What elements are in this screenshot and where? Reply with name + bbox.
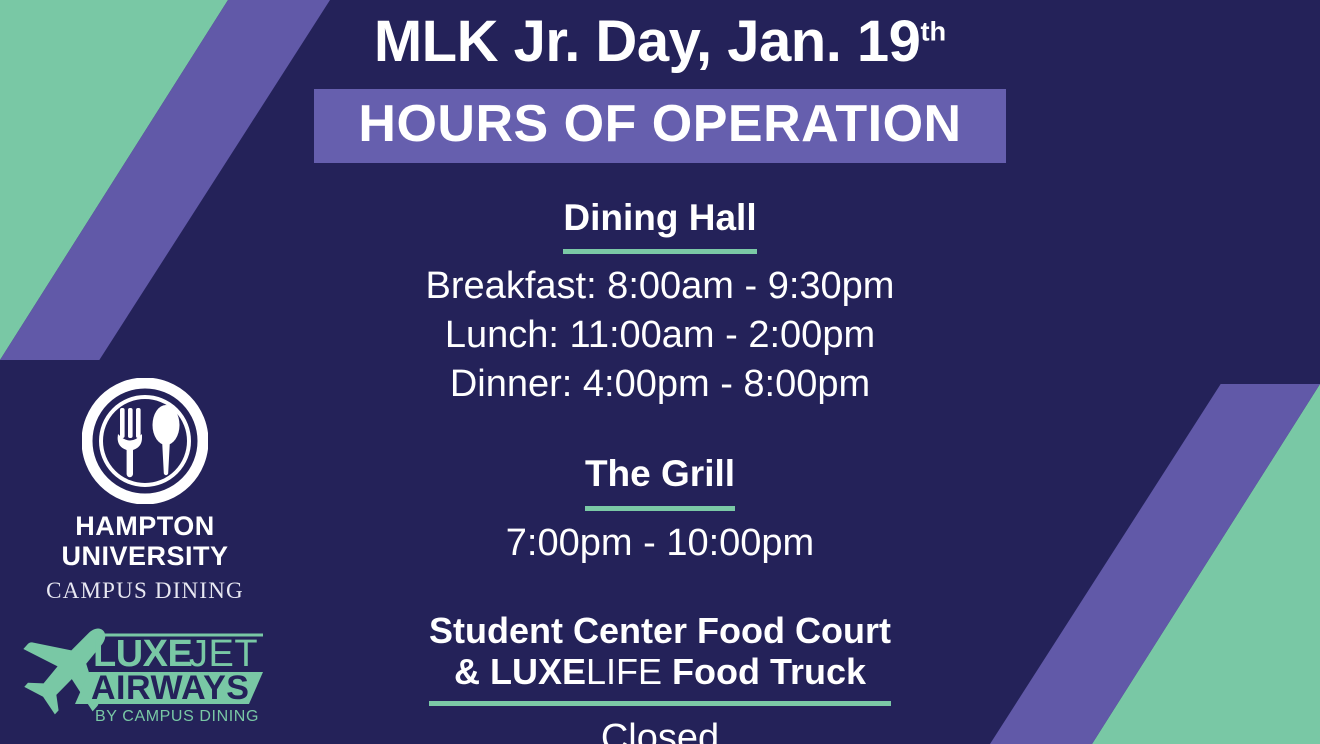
- branding-column: HAMPTON UNIVERSITY CAMPUS DINING LUXE JE…: [0, 378, 290, 731]
- venue-the-grill-heading: The Grill: [585, 452, 735, 510]
- hours-line-lunch: Lunch: 11:00am - 2:00pm: [300, 311, 1020, 360]
- venue-student-center-heading: Student Center Food Court& LUXELIFE Food…: [429, 611, 891, 706]
- hours-of-operation-poster: MLK Jr. Day, Jan. 19th HOURS OF OPERATIO…: [0, 0, 1320, 744]
- venue-dining-hall: Dining Hall Breakfast: 8:00am - 9:30pm L…: [300, 196, 1020, 408]
- venue-sections: Dining Hall Breakfast: 8:00am - 9:30pm L…: [300, 196, 1020, 744]
- university-name-line2: UNIVERSITY: [61, 541, 228, 571]
- venue-the-grill: The Grill 7:00pm - 10:00pm: [300, 452, 1020, 567]
- venue-luxe-word: LUXE: [490, 651, 586, 692]
- hours-line-breakfast: Breakfast: 8:00am - 9:30pm: [300, 262, 1020, 311]
- university-name: HAMPTON UNIVERSITY: [0, 512, 290, 571]
- corner-decoration-bottom-right: [980, 384, 1320, 744]
- hours-line-grill: 7:00pm - 10:00pm: [300, 519, 1020, 568]
- page-title-text: MLK Jr. Day, Jan. 19: [374, 9, 921, 74]
- luxejet-airways-word: AIRWAYS: [91, 669, 249, 707]
- luxejet-airways-logo: LUXE JET AIRWAYS BY CAMPUS DINING: [11, 614, 279, 726]
- venue-dining-hall-hours: Breakfast: 8:00am - 9:30pm Lunch: 11:00a…: [300, 262, 1020, 408]
- venue-student-center: Student Center Food Court& LUXELIFE Food…: [300, 611, 1020, 744]
- venue-student-center-line1: Student Center Food Court: [429, 610, 891, 651]
- venue-dining-hall-heading: Dining Hall: [563, 196, 756, 254]
- venue-student-center-line2-prefix: &: [454, 651, 490, 692]
- venue-student-center-line2-suffix: Food Truck: [662, 651, 866, 692]
- luxejet-tagline: BY CAMPUS DINING: [95, 708, 259, 725]
- venue-the-grill-hours: 7:00pm - 10:00pm: [300, 519, 1020, 568]
- venue-student-center-hours: Closed: [300, 714, 1020, 744]
- university-name-line1: HAMPTON: [75, 511, 215, 541]
- venue-life-word: LIFE: [586, 651, 662, 692]
- plate-fork-spoon-icon: [82, 378, 208, 504]
- hours-banner: HOURS OF OPERATION: [314, 89, 1006, 164]
- poster-header: MLK Jr. Day, Jan. 19th HOURS OF OPERATIO…: [0, 12, 1320, 163]
- page-title-superscript: th: [920, 16, 946, 47]
- hours-line-dinner: Dinner: 4:00pm - 8:00pm: [300, 360, 1020, 409]
- hours-banner-label: HOURS OF OPERATION: [340, 97, 980, 152]
- hours-line-closed: Closed: [300, 714, 1020, 744]
- department-label: CAMPUS DINING: [0, 578, 290, 604]
- page-title: MLK Jr. Day, Jan. 19th: [0, 12, 1320, 73]
